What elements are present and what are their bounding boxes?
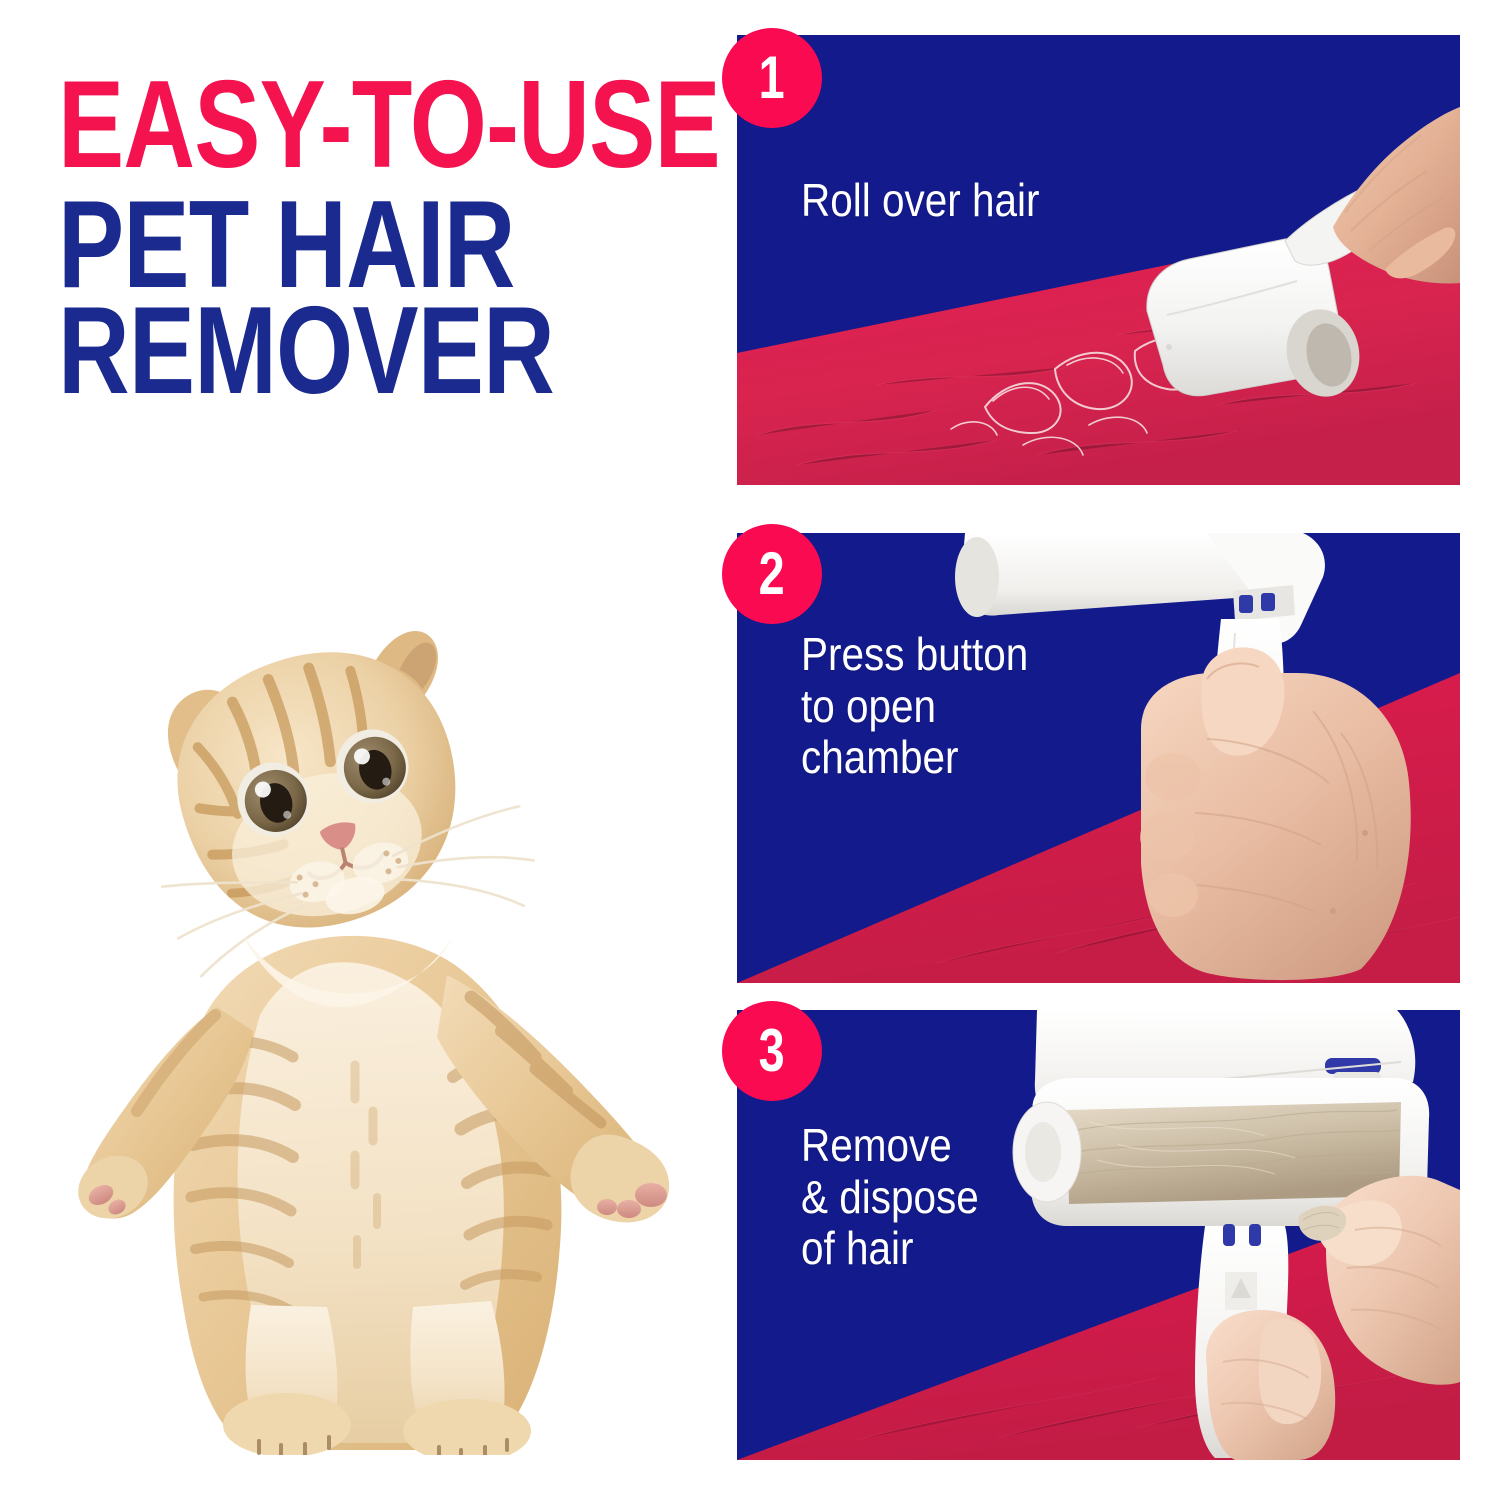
left-column: EASY-TO-USE PET HAIR REMOVER — [0, 0, 720, 1500]
step-3-number: 3 — [759, 1016, 785, 1085]
step-panel-1: Roll over hair — [737, 35, 1460, 485]
step-1-photo — [737, 35, 1460, 485]
step-badge-1: 1 — [722, 28, 832, 138]
step-1-caption: Roll over hair — [801, 175, 1039, 227]
step-2-number: 2 — [759, 539, 785, 608]
step-panel-2: Press button to open chamber — [737, 533, 1460, 983]
headline-line-1: EASY-TO-USE — [58, 68, 578, 182]
cat-hero-image — [55, 545, 675, 1455]
headline-line-3: REMOVER — [58, 294, 578, 408]
step-panel-3: Remove & dispose of hair — [737, 1010, 1460, 1460]
step-1-number: 1 — [759, 43, 785, 112]
step-badge-2: 2 — [722, 524, 832, 634]
step-3-caption: Remove & dispose of hair — [801, 1120, 979, 1275]
page-title: EASY-TO-USE PET HAIR REMOVER — [58, 68, 708, 408]
step-badge-3: 3 — [722, 1001, 832, 1111]
step-2-caption: Press button to open chamber — [801, 629, 1028, 784]
